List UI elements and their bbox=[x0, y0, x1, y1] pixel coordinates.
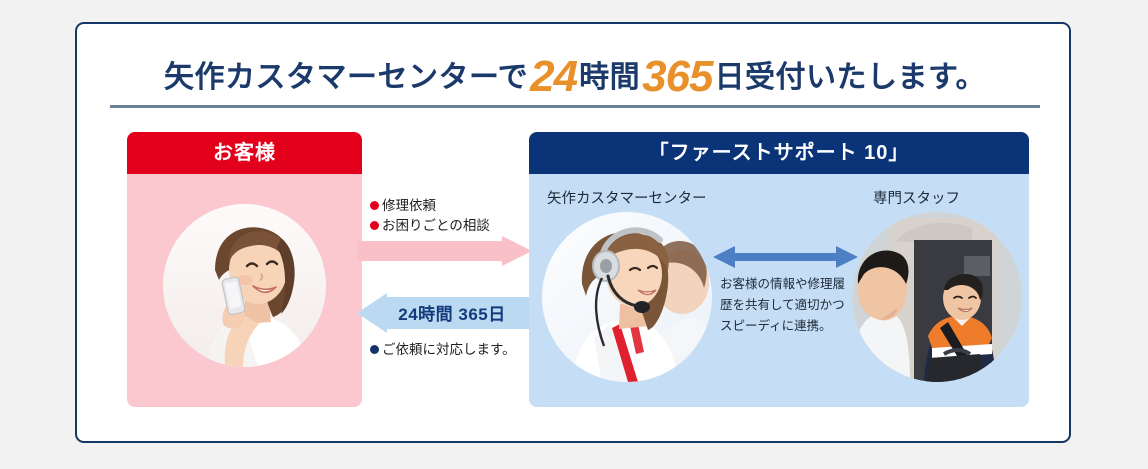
request-label-2: お困りごとの相談 bbox=[382, 218, 490, 233]
request-label-1: 修理依頼 bbox=[382, 198, 436, 213]
list-item: ご依頼に対応します。 bbox=[370, 340, 545, 360]
coordination-arrow bbox=[713, 244, 858, 270]
list-item: お困りごとの相談 bbox=[370, 216, 540, 236]
outbound-arrow bbox=[357, 236, 532, 266]
field-staff-photo-illustration bbox=[852, 212, 1022, 382]
coordination-note-line-1: お客様の情報や修理履 bbox=[720, 274, 850, 295]
call-center-photo bbox=[542, 212, 712, 382]
customer-center-label: 矢作カスタマーセンター bbox=[547, 187, 707, 208]
customer-photo-illustration bbox=[163, 204, 326, 367]
list-item: 修理依頼 bbox=[370, 196, 540, 216]
customer-request-list: 修理依頼 お困りごとの相談 bbox=[370, 196, 540, 236]
page-title: 矢作カスタマーセンターで24時間365日受付いたします。 bbox=[77, 52, 1073, 102]
customer-panel-header: お客様 bbox=[127, 132, 362, 174]
title-segment-2: 時間 bbox=[579, 61, 640, 94]
field-staff-photo bbox=[852, 212, 1022, 382]
customer-response-list: ご依頼に対応します。 bbox=[370, 340, 545, 360]
call-center-photo-illustration bbox=[542, 212, 712, 382]
inbound-arrow-label: 24時間 365日 bbox=[377, 300, 527, 325]
title-divider bbox=[110, 105, 1040, 108]
coordination-note-line-3: スピーディに連携。 bbox=[720, 316, 850, 337]
response-label: ご依頼に対応します。 bbox=[382, 342, 516, 357]
coordination-note-line-2: 歴を共有して適切かつ bbox=[720, 295, 850, 316]
title-segment-1: 矢作カスタマーセンターで bbox=[164, 61, 528, 94]
double-arrow-icon bbox=[713, 244, 858, 270]
arrow-right-icon bbox=[357, 236, 532, 266]
coordination-note: お客様の情報や修理履 歴を共有して適切かつ スピーディに連携。 bbox=[720, 274, 850, 337]
title-number-days: 365 bbox=[640, 52, 714, 101]
page-root: 矢作カスタマーセンターで24時間365日受付いたします。 お客様 bbox=[0, 0, 1148, 469]
bullet-dot-icon bbox=[370, 345, 379, 354]
customer-photo bbox=[163, 204, 326, 367]
info-card: 矢作カスタマーセンターで24時間365日受付いたします。 お客様 bbox=[75, 22, 1071, 443]
title-segment-3: 日受付いたします。 bbox=[715, 61, 987, 94]
support-panel-header: 「ファーストサポート 10」 bbox=[529, 132, 1029, 174]
bullet-dot-icon bbox=[370, 221, 379, 230]
title-number-hours: 24 bbox=[528, 52, 579, 101]
bullet-dot-icon bbox=[370, 201, 379, 210]
specialist-staff-label: 専門スタッフ bbox=[873, 187, 960, 208]
